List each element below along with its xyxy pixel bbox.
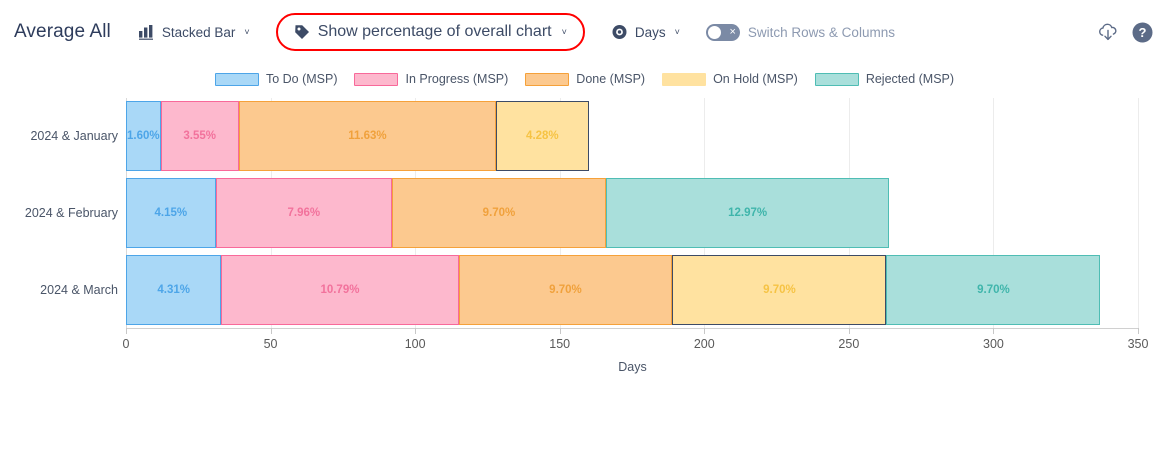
bar-row: 1.60%3.55%11.63%4.28% xyxy=(126,101,1138,171)
bar-row: 4.15%7.96%9.70%12.97% xyxy=(126,178,1138,248)
percentage-mode-selector[interactable]: Show percentage of overall chart ˅ xyxy=(276,13,585,51)
bar-chart-icon xyxy=(139,25,155,40)
bar-segment[interactable]: 10.79% xyxy=(221,255,458,325)
x-tick-mark xyxy=(1138,328,1139,334)
x-tick-label: 300 xyxy=(983,337,1004,351)
legend-swatch xyxy=(354,73,398,86)
x-tick-label: 350 xyxy=(1128,337,1149,351)
bar-segment[interactable]: 12.97% xyxy=(606,178,889,248)
toggle-knob xyxy=(708,26,721,39)
svg-text:?: ? xyxy=(1139,25,1147,40)
bar-segment-label: 1.60% xyxy=(127,130,160,142)
chevron-down-icon[interactable]: ˅ xyxy=(562,28,567,37)
bar-segment-label: 12.97% xyxy=(728,207,767,219)
bar-segment[interactable]: 9.70% xyxy=(459,255,673,325)
chart-legend: To Do (MSP)In Progress (MSP)Done (MSP)On… xyxy=(0,64,1169,94)
x-tick-mark xyxy=(560,328,561,334)
x-tick-label: 50 xyxy=(264,337,278,351)
bar-segment[interactable]: 4.15% xyxy=(126,178,216,248)
bar-segment[interactable]: 3.55% xyxy=(161,101,239,171)
bar-segment-label: 9.70% xyxy=(549,284,582,296)
x-tick-mark xyxy=(849,328,850,334)
bar-segment[interactable]: 4.31% xyxy=(126,255,221,325)
bar-segment-label: 9.70% xyxy=(977,284,1010,296)
x-tick-mark xyxy=(271,328,272,334)
bar-segment-label: 9.70% xyxy=(763,284,796,296)
legend-item[interactable]: On Hold (MSP) xyxy=(662,72,798,86)
y-axis-label: 2024 & February xyxy=(25,206,118,220)
bar-row: 4.31%10.79%9.70%9.70%9.70% xyxy=(126,255,1138,325)
x-tick-mark xyxy=(126,328,127,334)
switch-rows-columns-label: Switch Rows & Columns xyxy=(748,25,895,40)
chevron-down-icon[interactable]: ˅ xyxy=(675,28,680,37)
chart-type-label: Stacked Bar xyxy=(162,25,236,40)
chevron-down-icon[interactable]: ˅ xyxy=(244,28,249,37)
toolbar-right-actions: ? xyxy=(1097,22,1153,43)
chart-container: 1.60%3.55%11.63%4.28%4.15%7.96%9.70%12.9… xyxy=(0,98,1169,398)
bar-segment-label: 3.55% xyxy=(183,130,216,142)
x-tick-label: 0 xyxy=(123,337,130,351)
plot-area: 1.60%3.55%11.63%4.28%4.15%7.96%9.70%12.9… xyxy=(126,98,1138,328)
legend-label: On Hold (MSP) xyxy=(713,72,798,86)
unit-label: Days xyxy=(635,25,666,40)
x-tick-label: 150 xyxy=(549,337,570,351)
percentage-mode-label: Show percentage of overall chart xyxy=(318,23,552,41)
bar-segment[interactable]: 1.60% xyxy=(126,101,161,171)
bar-segment-label: 4.15% xyxy=(155,207,188,219)
toggle-off-icon: × xyxy=(729,24,735,41)
legend-label: To Do (MSP) xyxy=(266,72,338,86)
x-tick-label: 250 xyxy=(838,337,859,351)
bar-segment-label: 9.70% xyxy=(483,207,516,219)
legend-swatch xyxy=(815,73,859,86)
cloud-download-icon[interactable] xyxy=(1097,22,1119,42)
bar-segment-label: 7.96% xyxy=(288,207,321,219)
legend-label: Rejected (MSP) xyxy=(866,72,954,86)
x-tick-label: 100 xyxy=(405,337,426,351)
legend-item[interactable]: To Do (MSP) xyxy=(215,72,338,86)
bar-segment-label: 10.79% xyxy=(320,284,359,296)
help-circle-icon[interactable]: ? xyxy=(1132,22,1153,43)
x-tick-label: 200 xyxy=(694,337,715,351)
bar-segment-label: 4.28% xyxy=(526,130,559,142)
x-tick-mark xyxy=(415,328,416,334)
page-title: Average All xyxy=(14,21,111,43)
bar-segment-label: 4.31% xyxy=(157,284,190,296)
bar-segment[interactable]: 9.70% xyxy=(672,255,886,325)
gridline xyxy=(1138,98,1139,328)
legend-item[interactable]: Done (MSP) xyxy=(525,72,645,86)
x-axis-title: Days xyxy=(126,360,1139,374)
y-axis-label: 2024 & March xyxy=(40,283,118,297)
legend-label: Done (MSP) xyxy=(576,72,645,86)
toolbar: Average All Stacked Bar ˅ Show percentag… xyxy=(0,0,1169,64)
legend-swatch xyxy=(525,73,569,86)
legend-label: In Progress (MSP) xyxy=(405,72,508,86)
bar-segment-label: 11.63% xyxy=(348,130,386,142)
legend-swatch xyxy=(662,73,706,86)
unit-selector[interactable]: Days ˅ xyxy=(609,20,682,44)
x-tick-mark xyxy=(704,328,705,334)
eye-icon xyxy=(611,24,628,40)
bar-segment[interactable]: 4.28% xyxy=(496,101,589,171)
switch-rows-columns-toggle[interactable]: × Switch Rows & Columns xyxy=(706,24,895,41)
bar-segment[interactable]: 11.63% xyxy=(239,101,496,171)
legend-swatch xyxy=(215,73,259,86)
toggle-track[interactable]: × xyxy=(706,24,740,41)
bar-segment[interactable]: 7.96% xyxy=(216,178,392,248)
x-axis-line xyxy=(126,328,1139,329)
bar-segment[interactable]: 9.70% xyxy=(392,178,606,248)
tag-icon xyxy=(294,24,310,40)
legend-item[interactable]: Rejected (MSP) xyxy=(815,72,954,86)
legend-item[interactable]: In Progress (MSP) xyxy=(354,72,508,86)
y-axis-label: 2024 & January xyxy=(30,129,118,143)
bar-segment[interactable]: 9.70% xyxy=(886,255,1100,325)
x-tick-mark xyxy=(993,328,994,334)
chart-type-selector[interactable]: Stacked Bar ˅ xyxy=(137,21,252,44)
